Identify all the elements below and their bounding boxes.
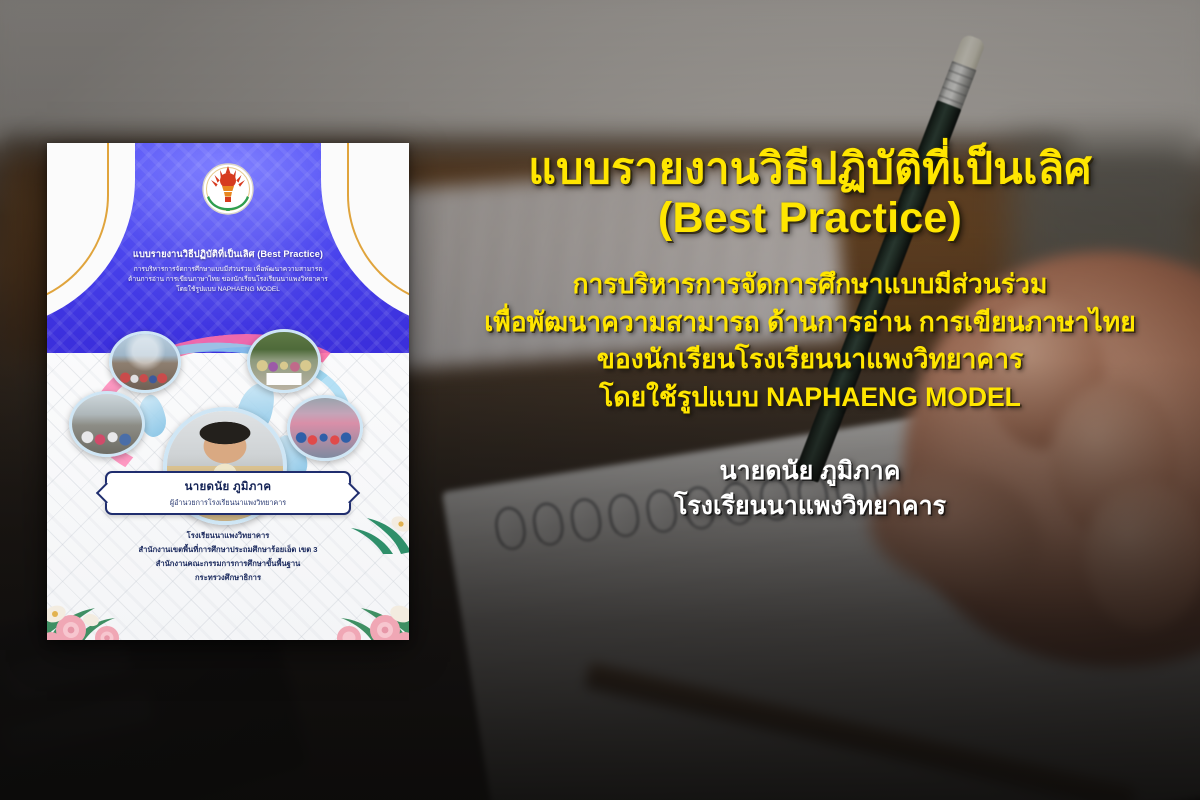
cover-footer-line: กระทรวงศึกษาธิการ (61, 571, 395, 585)
cover-blue-header: แบบรายงานวิธีปฏิบัติที่เป็นเลิศ (Best Pr… (47, 143, 409, 353)
cover-footer-line: สำนักงานเขตพื้นที่การศึกษาประถมศึกษาร้อย… (61, 543, 395, 557)
cover-header-body-line: ด้านการอ่าน การเขียนภาษาไทย ของนักเรียนโ… (59, 275, 397, 285)
cover-footer-line: สำนักงานคณะกรรมการการศึกษาขั้นพื้นฐาน (61, 557, 395, 571)
subtitle-line: การบริหารการจัดการศึกษาแบบมีส่วนร่วม (430, 266, 1190, 304)
banner-stage: แบบรายงานวิธีปฏิบัติที่เป็นเลิศ (Best Pr… (0, 0, 1200, 800)
page-title: แบบรายงานวิธีปฏิบัติที่เป็นเลิศ (Best Pr… (430, 145, 1190, 244)
cover-header-text: แบบรายงานวิธีปฏิบัติที่เป็นเลิศ (Best Pr… (59, 247, 397, 296)
photo-school-assembly (109, 331, 181, 393)
cover-header-title: แบบรายงานวิธีปฏิบัติที่เป็นเลิศ (Best Pr… (59, 247, 397, 262)
photo-stage-performance (287, 395, 363, 461)
subtitle-line: ของนักเรียนโรงเรียนนาแพงวิทยาคาร (430, 341, 1190, 379)
cover-header-body-line: โดยใช้รูปแบบ NAPHAENG MODEL (59, 285, 397, 295)
cover-director-role: ผู้อำนวยการโรงเรียนนาแพงวิทยาคาร (170, 498, 286, 509)
cover-header-body-line: การบริหารการจัดการศึกษาแบบมีส่วนร่วม เพื… (59, 265, 397, 275)
report-cover-image: แบบรายงานวิธีปฏิบัติที่เป็นเลิศ (Best Pr… (47, 143, 409, 640)
author-name: นายดนัย ภูมิภาค (430, 454, 1190, 489)
author-school: โรงเรียนนาแพงวิทยาคาร (430, 489, 1190, 524)
cover-footer-line: โรงเรียนนาแพงวิทยาคาร (61, 529, 395, 543)
banner-text-block: แบบรายงานวิธีปฏิบัติที่เป็นเลิศ (Best Pr… (430, 145, 1190, 523)
author-block: นายดนัย ภูมิภาค โรงเรียนนาแพงวิทยาคาร (430, 454, 1190, 523)
title-line: แบบรายงานวิธีปฏิบัติที่เป็นเลิศ (430, 145, 1190, 194)
photo-group-outdoor (247, 329, 321, 393)
cover-footer: โรงเรียนนาแพงวิทยาคาร สำนักงานเขตพื้นที่… (61, 529, 395, 585)
cover-header-body: การบริหารการจัดการศึกษาแบบมีส่วนร่วม เพื… (59, 265, 397, 296)
cover-director-name: นายดนัย ภูมิภาค (185, 478, 272, 496)
subtitle-line: เพื่อพัฒนาความสามารถ ด้านการอ่าน การเขีย… (430, 304, 1190, 342)
cover-name-banner: นายดนัย ภูมิภาค ผู้อำนวยการโรงเรียนนาแพง… (105, 471, 351, 515)
ministry-of-education-emblem-icon (199, 156, 257, 220)
subtitle-line: โดยใช้รูปแบบ NAPHAENG MODEL (430, 379, 1190, 417)
photo-classroom-activity (69, 391, 145, 457)
page-subtitle: การบริหารการจัดการศึกษาแบบมีส่วนร่วม เพื… (430, 266, 1190, 417)
title-line: (Best Practice) (430, 194, 1190, 243)
